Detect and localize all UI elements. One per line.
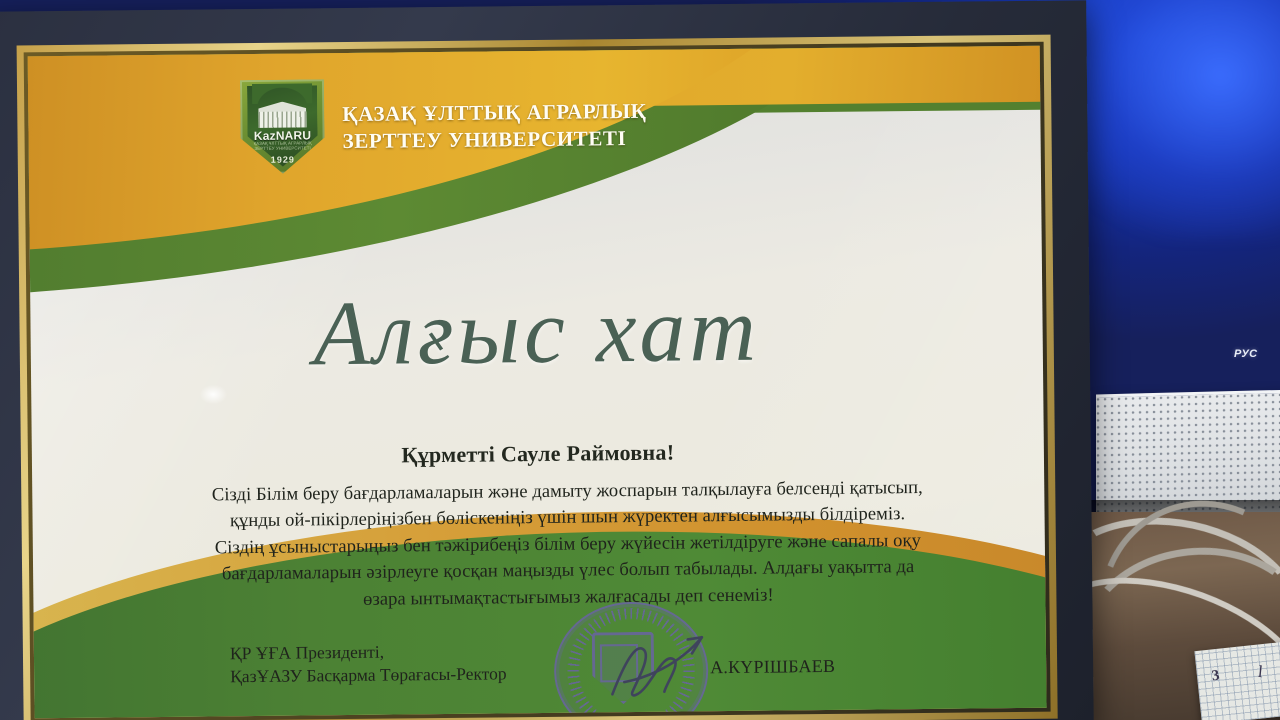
university-name-line-1: ҚАЗАҚ ҰЛТТЫҚ АГРАРЛЫҚ bbox=[342, 98, 646, 128]
certificate-title: Алғыс хат bbox=[30, 278, 1043, 385]
room-scene: РУС 3 l bbox=[0, 0, 1280, 720]
graph-paper-note bbox=[1194, 641, 1280, 720]
official-seal bbox=[553, 601, 708, 718]
university-name: ҚАЗАҚ ҰЛТТЫҚ АГРАРЛЫҚ ЗЕРТТЕУ УНИВЕРСИТЕ… bbox=[342, 98, 647, 155]
signatory-name: А.КҮРІШБАЕВ bbox=[710, 656, 835, 678]
certificate-header: KazNARU ҚАЗАҚ ҰЛТТЫҚ АГРАРЛЫҚ ЗЕРТТЕУ УН… bbox=[28, 46, 1042, 207]
language-indicator: РУС bbox=[1234, 348, 1258, 360]
frame-inner-bevel: KazNARU ҚАЗАҚ ҰЛТТЫҚ АГРАРЛЫҚ ЗЕРТТЕУ УН… bbox=[24, 42, 1051, 720]
certificate-body: Сізді Білім беру бағдарламаларын және да… bbox=[136, 474, 999, 615]
glass-glare bbox=[199, 384, 227, 404]
signature-title-line-2: ҚазҰАЗУ Басқарма Төрағасы-Ректор bbox=[230, 662, 507, 688]
signature-title-line-1: ҚР ҰҒА Президенті, bbox=[230, 639, 507, 665]
building-columns-icon bbox=[258, 111, 306, 128]
signature-title-block: ҚР ҰҒА Президенті, ҚазҰАЗУ Басқарма Төра… bbox=[230, 639, 507, 688]
handwritten-signature-icon bbox=[606, 619, 717, 716]
logo-founding-year: 1929 bbox=[241, 154, 325, 165]
picture-frame: KazNARU ҚАЗАҚ ҰЛТТЫҚ АГРАРЛЫҚ ЗЕРТТЕУ УН… bbox=[0, 0, 1094, 720]
logo-subtitle: ҚАЗАҚ ҰЛТТЫҚ АГРАРЛЫҚ ЗЕРТТЕУ УНИВЕРСИТЕ… bbox=[245, 141, 321, 151]
frame-gold-trim: KazNARU ҚАЗАҚ ҰЛТТЫҚ АГРАРЛЫҚ ЗЕРТТЕУ УН… bbox=[17, 35, 1058, 720]
certificate-greeting: Құрметті Сауле Раймовна! bbox=[32, 436, 1044, 473]
certificate-paper: KazNARU ҚАЗАҚ ҰЛТТЫҚ АГРАРЛЫҚ ЗЕРТТЕУ УН… bbox=[28, 46, 1047, 719]
university-name-line-2: ЗЕРТТЕУ УНИВЕРСИТЕТІ bbox=[342, 125, 646, 155]
kaznaru-logo-icon: KazNARU ҚАЗАҚ ҰЛТТЫҚ АГРАРЛЫҚ ЗЕРТТЕУ УН… bbox=[240, 79, 325, 174]
book-icon bbox=[252, 83, 312, 104]
